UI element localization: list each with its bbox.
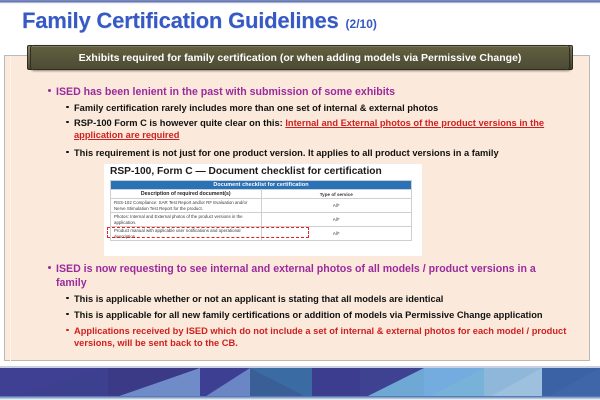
bullet-dot	[66, 106, 69, 109]
bullet-text: ISED is now requesting to see internal a…	[48, 263, 553, 290]
bullet-level2-family-cert: Family certification rarely includes mor…	[66, 102, 566, 114]
table-row: RSS-102 Compliance: SAR Test Report and/…	[111, 199, 412, 213]
cell-description: RSS-102 Compliance: SAR Test Report and/…	[111, 199, 262, 213]
checklist-title: RSP-100, Form C — Document checklist for…	[104, 164, 422, 180]
bullet-text: RSP-100 Form C is however quite clear on…	[66, 117, 571, 141]
cell-service: All*	[261, 213, 412, 227]
bullet-text: ISED has been lenient in the past with s…	[48, 86, 548, 100]
table-header-bar: Document checklist for certification	[111, 181, 412, 190]
bullet-text: Applications received by ISED which do n…	[66, 325, 581, 349]
title-text: Family Certification Guidelines	[22, 8, 339, 34]
table-row: Product manual with applicable user noti…	[111, 227, 412, 241]
bullet-text-lead: RSP-100 Form C is however quite clear on…	[74, 118, 285, 128]
strip-bottom-fade	[0, 396, 600, 400]
panel-inner-edge	[10, 57, 11, 361]
form-c-checklist-card: RSP-100, Form C — Document checklist for…	[104, 164, 422, 256]
bullet-dot	[66, 297, 69, 300]
section-banner: Exhibits required for family certificati…	[30, 45, 570, 70]
table-row: Photos: Internal and External photos of …	[111, 213, 412, 227]
cell-service: All*	[261, 227, 412, 241]
table-column-header-row: Description of required document(s) Type…	[111, 190, 412, 199]
bullet-dot	[66, 329, 69, 332]
table-header-bar-row: Document checklist for certification	[111, 181, 412, 190]
bullet-text: This is applicable for all new family ce…	[66, 309, 581, 321]
bullet-text: This requirement is not just for one pro…	[66, 147, 576, 159]
bullet-level2-new-family-certs: This is applicable for all new family ce…	[66, 309, 581, 321]
title-page-counter: (2/10)	[346, 17, 377, 31]
bullet-level2-rsp100-formc: RSP-100 Form C is however quite clear on…	[66, 117, 571, 141]
bullet-dot	[66, 121, 69, 124]
section-banner-label: Exhibits required for family certificati…	[79, 52, 522, 64]
bullet-dot	[66, 313, 69, 316]
bullet-level1-requesting-photos: ISED is now requesting to see internal a…	[48, 263, 553, 290]
bullet-dot	[48, 89, 51, 92]
cell-service: All*	[261, 199, 412, 213]
column-header-description: Description of required document(s)	[111, 190, 262, 199]
column-header-service: Type of service	[261, 190, 412, 199]
bullet-level2-all-versions: This requirement is not just for one pro…	[66, 147, 576, 159]
bullet-level2-identical-models: This is applicable whether or not an app…	[66, 293, 571, 305]
bullet-dot	[48, 266, 51, 269]
cell-description: Product manual with applicable user noti…	[111, 227, 262, 241]
bullet-text: Family certification rarely includes mor…	[66, 102, 566, 114]
top-accent-bar	[0, 0, 600, 5]
bullet-level1-lenient: ISED has been lenient in the past with s…	[48, 86, 548, 100]
bullet-text: This is applicable whether or not an app…	[66, 293, 571, 305]
bullet-dot	[66, 151, 69, 154]
bullet-level2-sent-back: Applications received by ISED which do n…	[66, 325, 581, 349]
slide: Family Certification Guidelines (2/10) E…	[0, 0, 600, 400]
checklist-table: Document checklist for certification Des…	[110, 180, 412, 241]
page-title: Family Certification Guidelines (2/10)	[22, 8, 377, 34]
cell-description: Photos: Internal and External photos of …	[111, 213, 262, 227]
